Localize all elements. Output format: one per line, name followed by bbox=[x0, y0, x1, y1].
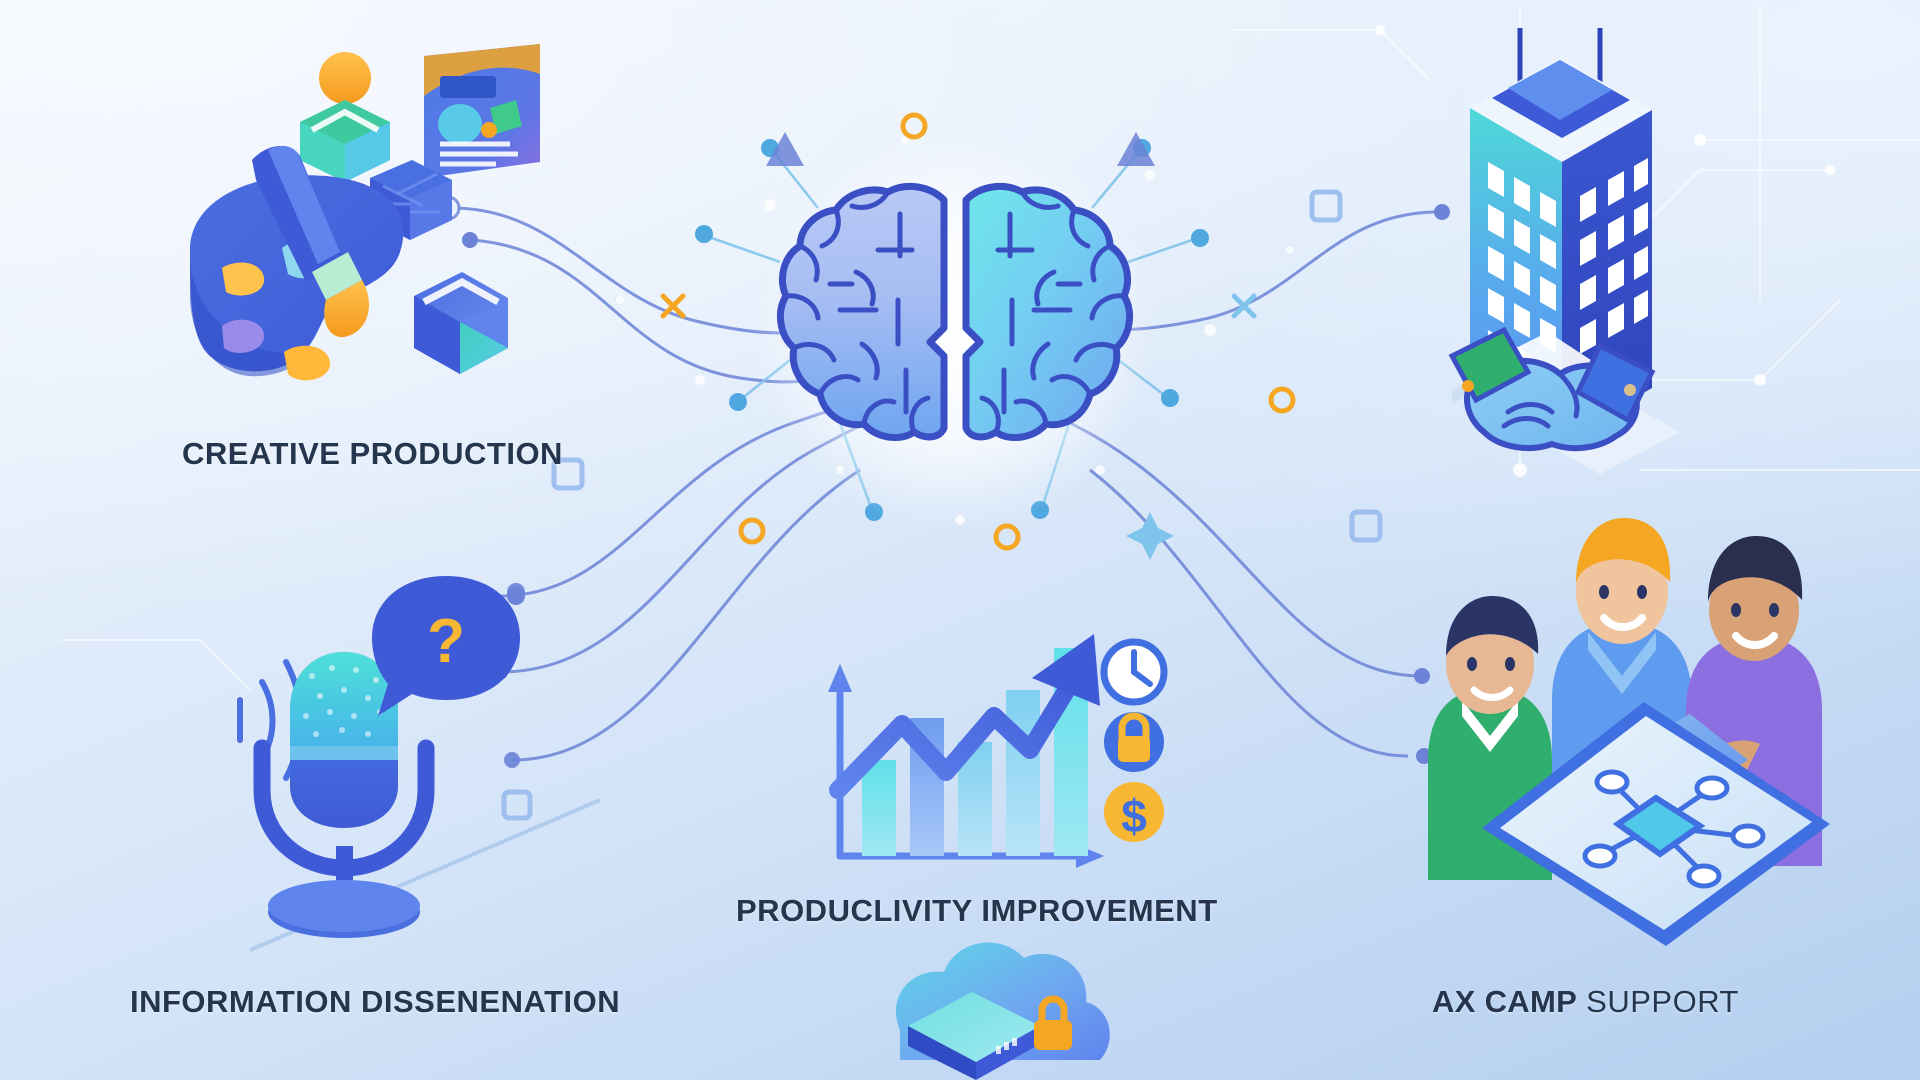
label-ax-camp-support: AX CAMP SUPPORT bbox=[1432, 984, 1739, 1020]
label-ax-camp-rest: SUPPORT bbox=[1577, 984, 1739, 1019]
label-information-dissemination: INFORMATION DISSENENATION bbox=[130, 984, 620, 1020]
label-ax-camp-strong: AX CAMP bbox=[1432, 984, 1577, 1019]
infographic-canvas: ? bbox=[0, 0, 1920, 1080]
label-creative-production: CREATIVE PRODUCTION bbox=[182, 436, 563, 472]
label-productivity-improvement: PRODUCLIVITY IMPROVEMENT bbox=[736, 893, 1218, 929]
